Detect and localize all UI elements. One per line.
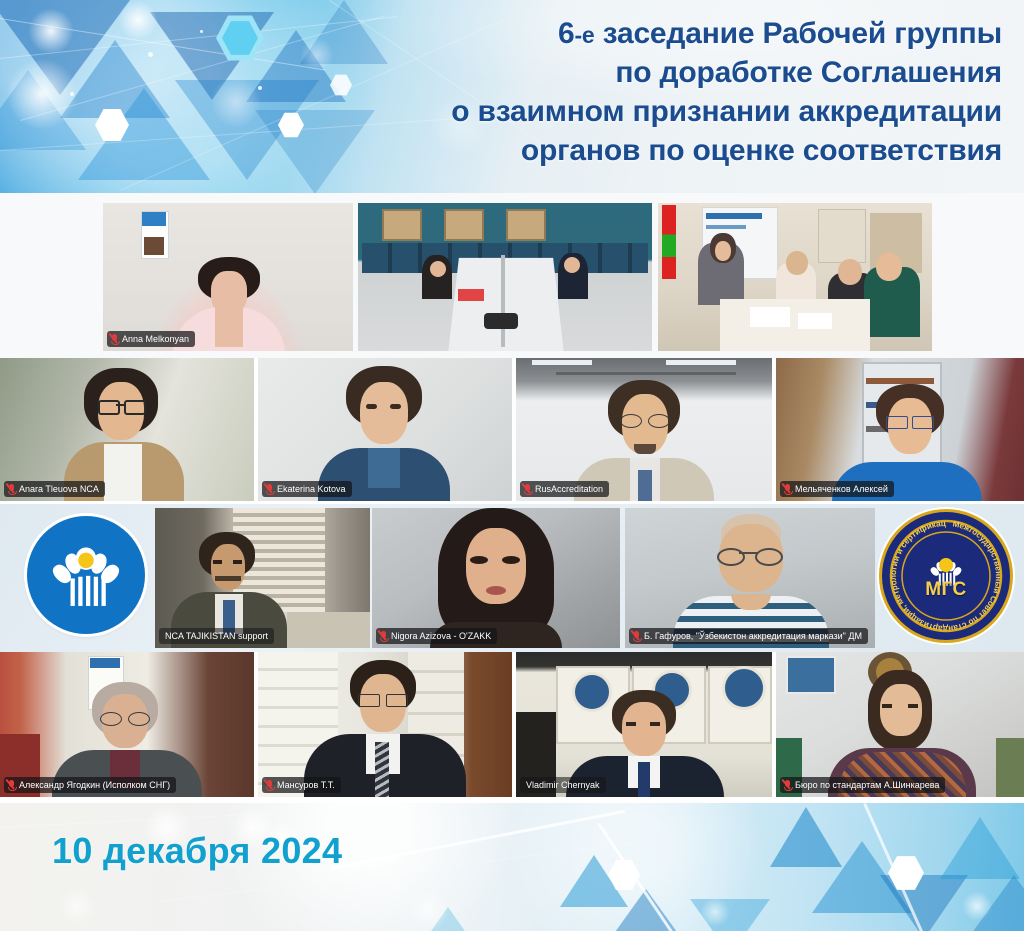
video-feed xyxy=(372,508,620,648)
participant-name: Ekaterina Kotova xyxy=(277,483,346,495)
tile-nca-tajikistan[interactable]: NCA TAJIKISTAN support xyxy=(155,508,370,648)
participant-name-badge: NCA TAJIKISTAN support xyxy=(159,628,274,644)
header-banner: 6-е заседание Рабочей группы по доработк… xyxy=(0,0,1024,193)
mic-muted-icon xyxy=(266,780,274,791)
video-feed xyxy=(516,358,772,501)
participant-name-badge: RusAccreditation xyxy=(520,481,609,497)
participant-name-badge: Мансуров Т.Т. xyxy=(262,777,341,793)
video-feed xyxy=(776,358,1024,501)
video-row-2: Anara Tleuova NCA Ekaterina Kotova xyxy=(0,358,1024,504)
participant-name-badge: Ekaterina Kotova xyxy=(262,481,352,497)
video-feed xyxy=(103,203,353,351)
participant-name-badge: Anara Tleuova NCA xyxy=(4,481,105,497)
title-line-3: о взаимном признании аккредитации xyxy=(362,92,1002,131)
cis-emblem-graphic xyxy=(43,532,129,618)
participant-name: Мельяченков Алексей xyxy=(795,483,888,495)
participant-name-badge: Бюро по стандартам А.Шинкарева xyxy=(780,777,945,793)
video-row-1: Anna Melkonyan xyxy=(0,193,1024,358)
video-feed xyxy=(776,652,1024,797)
event-date: 10 декабря 2024 xyxy=(52,830,342,872)
video-feed xyxy=(516,652,772,797)
participant-name: NCA TAJIKISTAN support xyxy=(165,630,268,642)
video-row-3: NCA TAJIKISTAN support Nigora Azizova - … xyxy=(0,504,1024,652)
video-feed xyxy=(625,508,875,648)
mgs-center-label: МГС xyxy=(882,579,1010,601)
title-line-4: органов по оценке соответствия xyxy=(362,131,1002,170)
tile-anna-melkonyan[interactable]: Anna Melkonyan xyxy=(103,203,353,351)
mic-muted-icon xyxy=(784,484,792,495)
tile-anara-tleuova[interactable]: Anara Tleuova NCA xyxy=(0,358,254,501)
tile-ekaterina-kotova[interactable]: Ekaterina Kotova xyxy=(258,358,512,501)
video-grid: Anna Melkonyan xyxy=(0,193,1024,803)
participant-name: Б. Гафуров, "Ўзбекистон аккредитация мар… xyxy=(644,630,862,642)
participant-name-badge: Anna Melkonyan xyxy=(107,331,195,347)
video-feed xyxy=(658,203,932,351)
mic-muted-icon xyxy=(380,631,388,642)
tile-melyachenkov-aleksey[interactable]: Мельяченков Алексей xyxy=(776,358,1024,501)
video-feed xyxy=(258,652,512,797)
title-line-1-rest: заседание Рабочей группы xyxy=(595,17,1002,50)
mgs-emblem: Межгосударственный Совет по стандартизац… xyxy=(882,512,1010,640)
conference-poster: 6-е заседание Рабочей группы по доработк… xyxy=(0,0,1024,931)
video-feed xyxy=(0,652,254,797)
video-feed xyxy=(258,358,512,501)
participant-name-badge: Vladimir Chernyak xyxy=(520,777,606,793)
tile-conference-room-blue[interactable] xyxy=(358,203,652,351)
participant-name-badge: Мельяченков Алексей xyxy=(780,481,894,497)
participant-name: Александр Ягодкин (Исполком СНГ) xyxy=(19,779,170,791)
participant-name-badge: Nigora Azizova - O'ZAKK xyxy=(376,628,497,644)
participant-name-badge: Александр Ягодкин (Исполком СНГ) xyxy=(4,777,176,793)
mic-muted-icon xyxy=(633,631,641,642)
tile-mansurov-tt[interactable]: Мансуров Т.Т. xyxy=(258,652,512,797)
tile-nigora-azizova[interactable]: Nigora Azizova - O'ZAKK xyxy=(372,508,620,648)
mic-muted-icon xyxy=(524,484,532,495)
participant-name: RusAccreditation xyxy=(535,483,603,495)
participant-name-badge: Б. Гафуров, "Ўзбекистон аккредитация мар… xyxy=(629,628,868,644)
participant-name: Vladimir Chernyak xyxy=(526,779,600,791)
participant-name: Anna Melkonyan xyxy=(122,333,189,345)
tile-aleksandr-yagodkin[interactable]: Александр Ягодкин (Исполком СНГ) xyxy=(0,652,254,797)
tile-meeting-room-flag[interactable] xyxy=(658,203,932,351)
mic-muted-icon xyxy=(8,484,16,495)
title-line-2: по доработке Соглашения xyxy=(362,53,1002,92)
mic-muted-icon xyxy=(8,780,16,791)
mgs-emblem-graphic: Межгосударственный Совет по стандартизац… xyxy=(882,512,1010,640)
participant-name: Мансуров Т.Т. xyxy=(277,779,335,791)
participant-name: Anara Tleuova NCA xyxy=(19,483,99,495)
cis-emblem xyxy=(27,516,145,634)
mic-muted-icon xyxy=(266,484,274,495)
video-feed xyxy=(155,508,370,648)
mic-muted-icon xyxy=(784,780,792,791)
title-number-suffix: -е xyxy=(574,22,594,48)
video-feed xyxy=(358,203,652,351)
video-feed xyxy=(0,358,254,501)
tile-vladimir-chernyak[interactable]: Vladimir Chernyak xyxy=(516,652,772,797)
tile-byuro-shinkareva[interactable]: Бюро по стандартам А.Шинкарева xyxy=(776,652,1024,797)
title-line-1: 6-е заседание Рабочей группы xyxy=(362,14,1002,53)
participant-name: Nigora Azizova - O'ZAKK xyxy=(391,630,491,642)
tile-b-gafurov[interactable]: Б. Гафуров, "Ўзбекистон аккредитация мар… xyxy=(625,508,875,648)
participant-name: Бюро по стандартам А.Шинкарева xyxy=(795,779,939,791)
page-title: 6-е заседание Рабочей группы по доработк… xyxy=(362,14,1002,170)
title-number: 6 xyxy=(558,17,575,50)
video-row-4: Александр Ягодкин (Исполком СНГ) xyxy=(0,652,1024,800)
tile-rusaccreditation[interactable]: RusAccreditation xyxy=(516,358,772,501)
mic-muted-icon xyxy=(111,334,119,345)
